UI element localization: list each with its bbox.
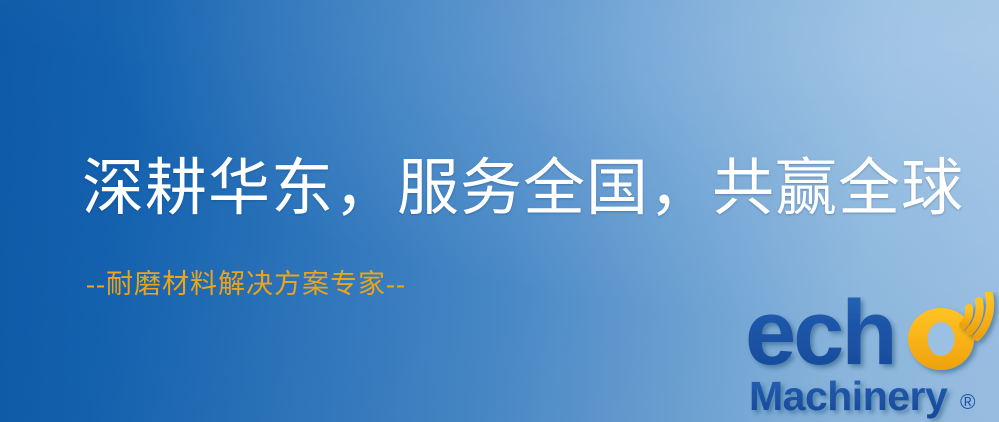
promo-banner: 深耕华东，服务全国，共赢全球 --耐磨材料解决方案专家-- — [0, 0, 999, 422]
logo-signal-waves-icon — [963, 294, 990, 337]
logo-artwork: ech Machinery ® — [745, 292, 999, 422]
logo-registered-mark: ® — [960, 391, 976, 414]
echo-machinery-logo: ech Machinery ® — [745, 292, 999, 422]
logo-wordmark-group: ech — [745, 292, 974, 384]
banner-subtitle: --耐磨材料解决方案专家-- — [86, 268, 406, 300]
banner-headline: 深耕华东，服务全国，共赢全球 — [82, 152, 964, 226]
logo-wordmark-echo: ech — [745, 292, 895, 384]
logo-tagline-machinery: Machinery — [749, 373, 948, 419]
